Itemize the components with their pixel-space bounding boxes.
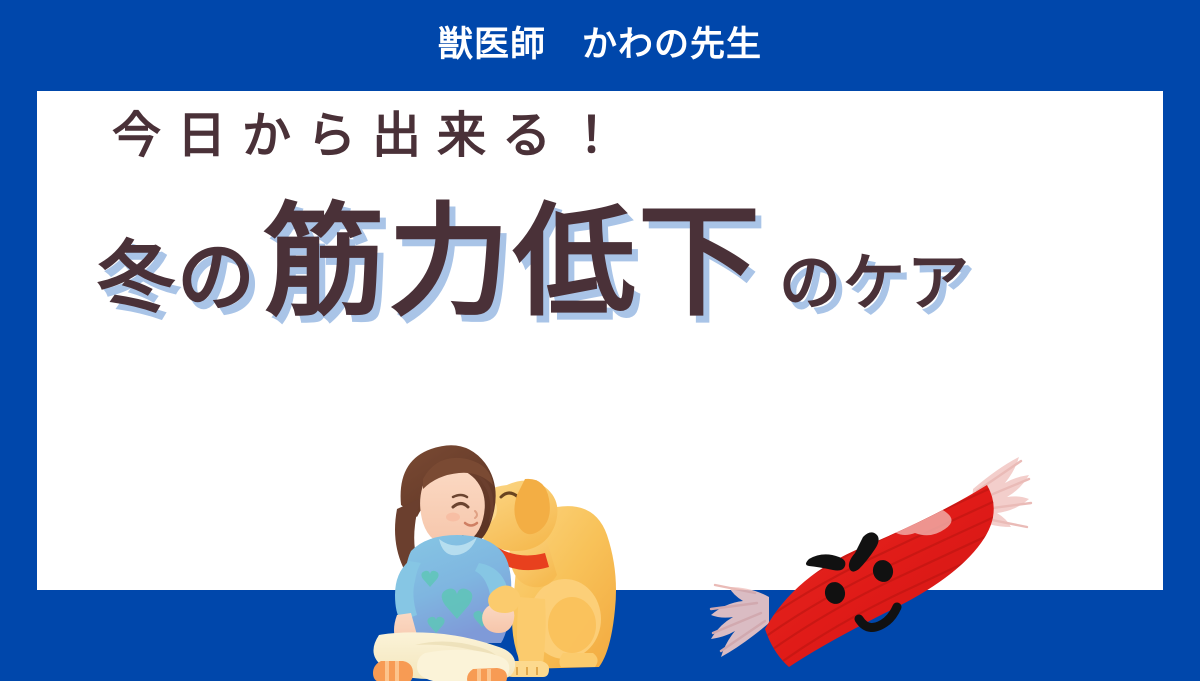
- content-card: 今日から出来る！ 冬の 筋力低下 のケア: [37, 91, 1163, 590]
- banner-root: 獣医師 かわの先生 今日から出来る！ 冬の 筋力低下 のケア: [0, 0, 1200, 630]
- muscle-character-illustration: [687, 431, 1057, 681]
- title-part-emphasis: 筋力低下: [263, 201, 763, 323]
- header-title: 獣医師 かわの先生: [438, 28, 762, 63]
- title-part-prefix: 冬の: [97, 239, 257, 317]
- woman-with-dog-illustration: [367, 439, 667, 681]
- title-part-suffix: のケア: [779, 252, 971, 314]
- woman-figure: [373, 445, 520, 681]
- main-title: 冬の 筋力低下 のケア: [97, 201, 1157, 323]
- header-bar: 獣医師 かわの先生: [0, 0, 1200, 91]
- eyebrow-left: [806, 554, 845, 570]
- muscle-tendon-left: [711, 585, 769, 657]
- muscle-character-svg: [687, 431, 1057, 681]
- woman-with-dog-svg: [367, 439, 667, 681]
- muscle-highlight: [875, 480, 952, 536]
- subtitle-text: 今日から出来る！: [112, 111, 632, 160]
